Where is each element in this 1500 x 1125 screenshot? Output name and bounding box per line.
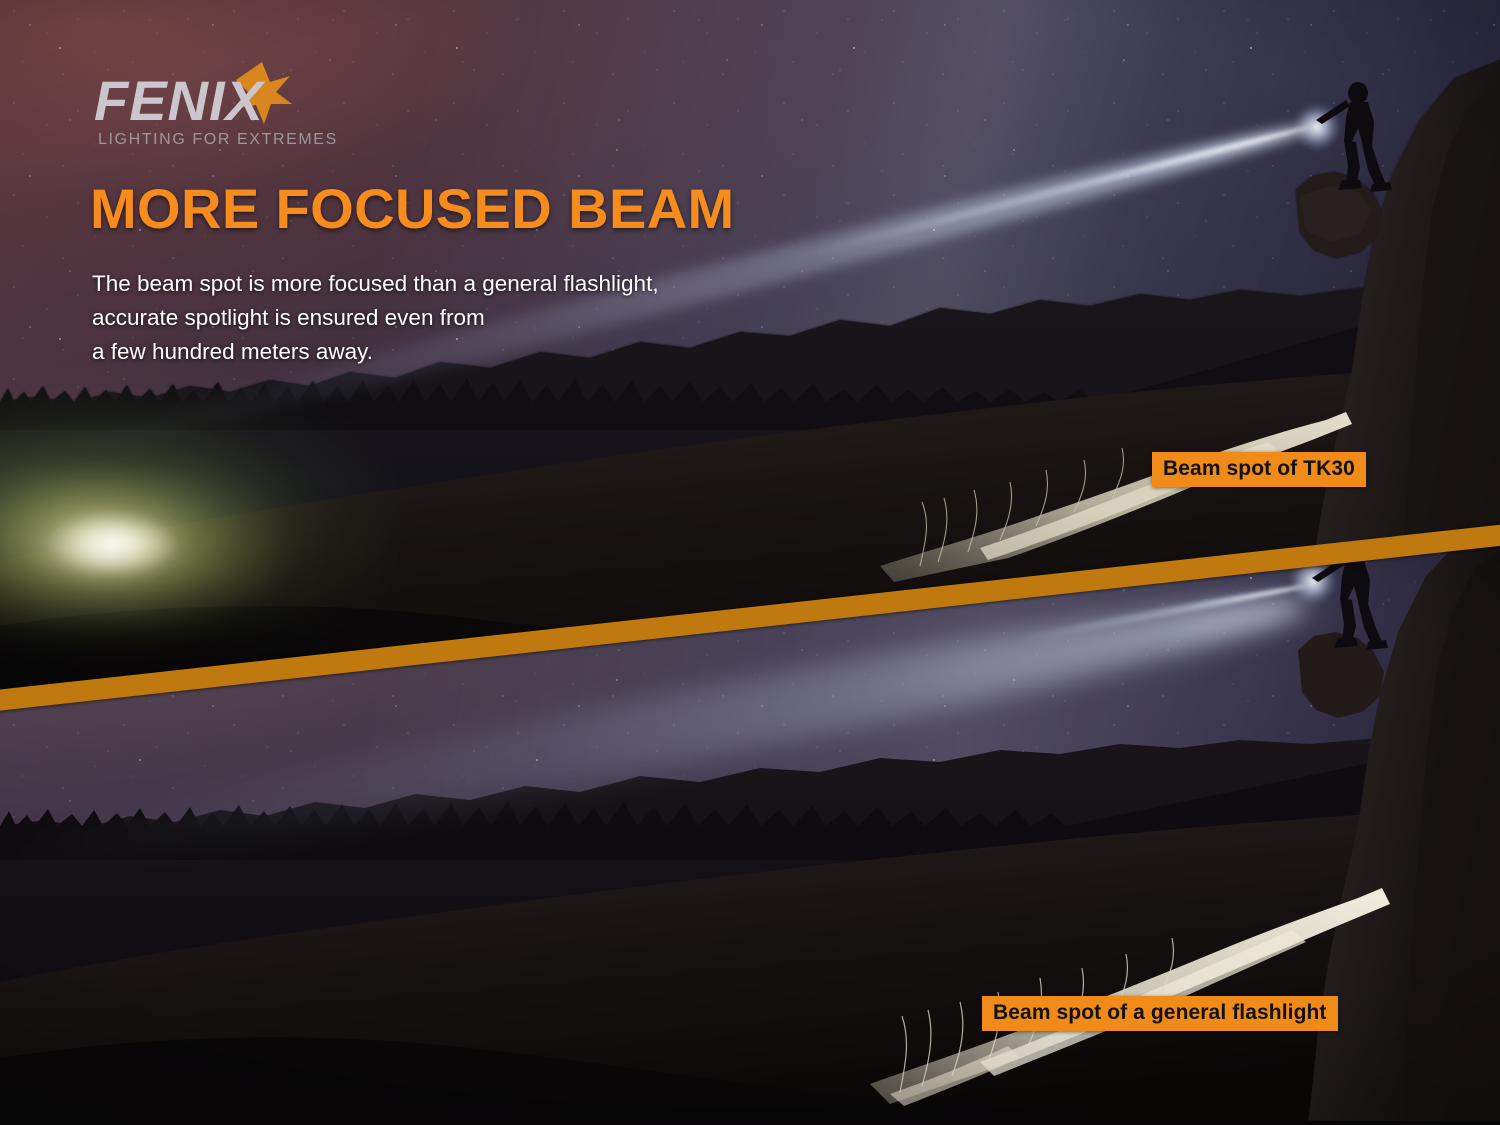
badge-beam-spot-general: Beam spot of a general flashlight: [982, 996, 1338, 1031]
fenix-logo: FENIX LIGHTING FOR EXTREMES: [92, 62, 412, 152]
description-line-1: The beam spot is more focused than a gen…: [92, 267, 659, 301]
fenix-tagline: LIGHTING FOR EXTREMES: [98, 131, 338, 148]
description-line-2: accurate spotlight is ensured even from: [92, 301, 659, 335]
description-line-3: a few hundred meters away.: [92, 335, 659, 369]
description-text: The beam spot is more focused than a gen…: [92, 267, 659, 370]
text-overlay: FENIX LIGHTING FOR EXTREMES MORE FOCUSED…: [0, 0, 1500, 1125]
promo-graphic: FENIX LIGHTING FOR EXTREMES MORE FOCUSED…: [0, 0, 1500, 1125]
badge-beam-spot-tk30: Beam spot of TK30: [1152, 452, 1366, 487]
fenix-wordmark: FENIX: [94, 69, 267, 132]
fenix-logo-mark: FENIX LIGHTING FOR EXTREMES: [92, 62, 412, 152]
page-title: MORE FOCUSED BEAM: [90, 181, 735, 237]
